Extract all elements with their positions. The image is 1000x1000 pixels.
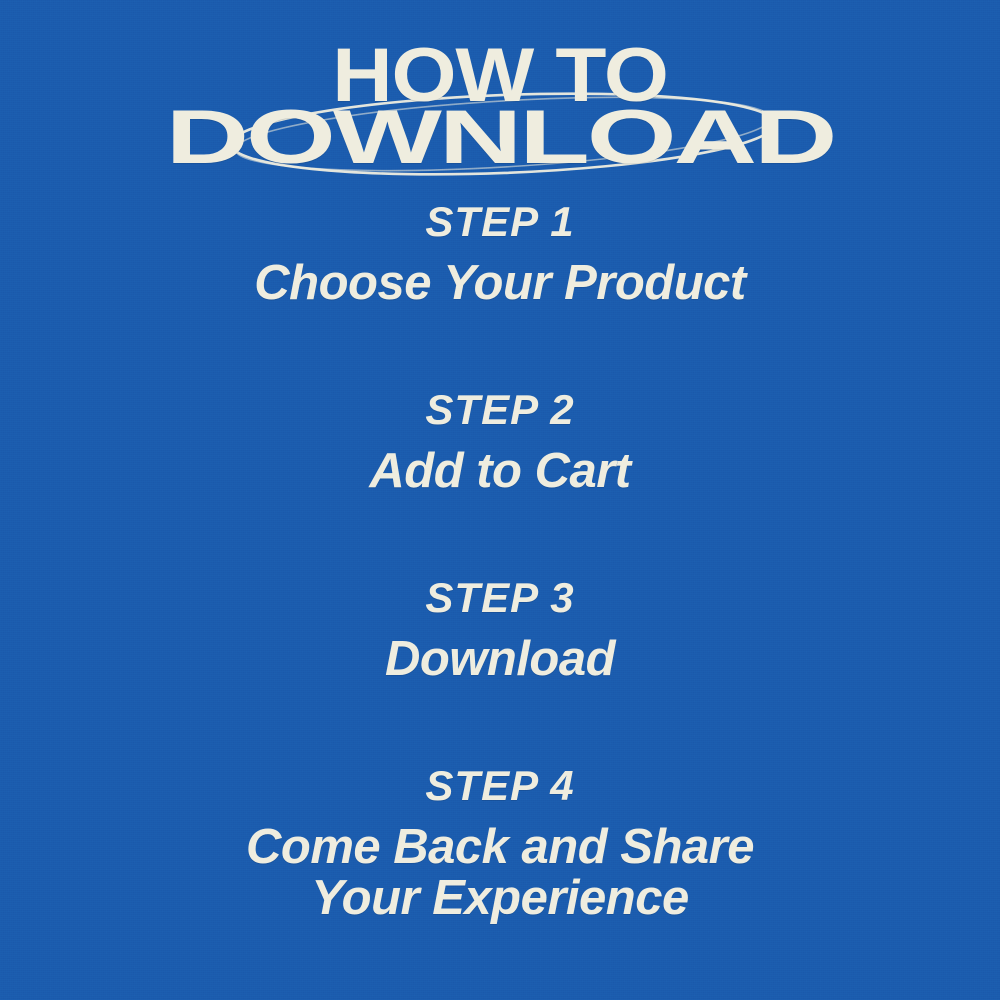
step-item-1: STEP 1 Choose Your Product [0,200,1000,309]
step-item-4: STEP 4 Come Back and Share Your Experien… [0,764,1000,924]
title-block: HOW TO DOWNLOAD [0,0,1000,200]
step-label-1: STEP 1 [0,200,1000,244]
title-line-download: DOWNLOAD [0,100,1000,176]
step-title-4: Come Back and Share Your Experience [0,822,1000,924]
step-title-1: Choose Your Product [0,258,1000,309]
step-title-3: Download [0,634,1000,685]
step-title-2: Add to Cart [0,446,1000,497]
step-label-4: STEP 4 [0,764,1000,808]
steps-list: STEP 1 Choose Your Product STEP 2 Add to… [0,200,1000,1000]
step-label-3: STEP 3 [0,576,1000,620]
step-label-2: STEP 2 [0,388,1000,432]
how-to-download-poster: HOW TO DOWNLOAD STEP 1 Choose Your Produ… [0,0,1000,1000]
step-item-2: STEP 2 Add to Cart [0,388,1000,497]
step-item-3: STEP 3 Download [0,576,1000,685]
